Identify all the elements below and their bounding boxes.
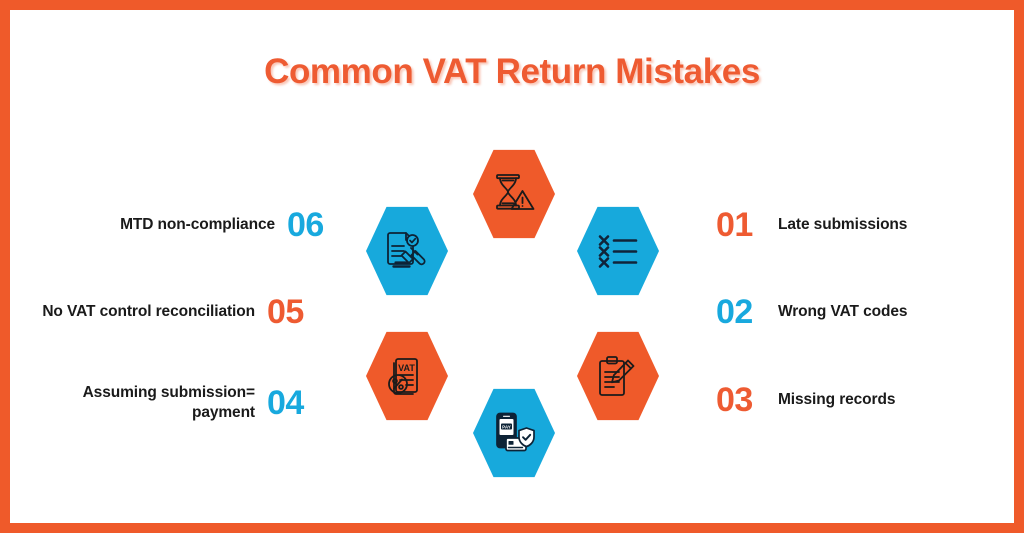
item-label: Missing records xyxy=(774,390,948,410)
hex-no-vat-control-reconciliation[interactable]: VAT xyxy=(366,330,448,422)
document-gavel-icon xyxy=(385,229,429,273)
item-05[interactable]: No VAT control reconciliation 05 xyxy=(30,295,325,329)
item-label: No VAT control reconciliation xyxy=(30,302,267,322)
item-06[interactable]: MTD non-compliance 06 xyxy=(50,208,345,242)
clipboard-pencil-icon xyxy=(596,354,640,398)
hex-late-submissions[interactable] xyxy=(473,148,555,240)
item-number: 03 xyxy=(716,383,774,417)
hex-assuming-submission-payment[interactable]: PAY xyxy=(473,387,555,479)
svg-text:PAY: PAY xyxy=(502,424,511,429)
item-label: Assuming submission= payment xyxy=(30,383,267,424)
vat-mistakes-infographic: Common VAT Return Mistakes xyxy=(0,0,1024,533)
item-number: 04 xyxy=(267,386,325,420)
item-number: 01 xyxy=(716,208,774,242)
item-label: MTD non-compliance xyxy=(50,215,287,235)
item-label: Late submissions xyxy=(774,215,948,235)
item-02[interactable]: 02 Wrong VAT codes xyxy=(716,295,948,329)
mobile-payment-shield-icon: PAY xyxy=(492,411,536,455)
item-label: Wrong VAT codes xyxy=(774,302,948,322)
item-01[interactable]: 01 Late submissions xyxy=(716,208,948,242)
hourglass-warning-icon xyxy=(491,172,537,216)
page-title: Common VAT Return Mistakes xyxy=(10,52,1014,92)
svg-text:VAT: VAT xyxy=(398,363,415,373)
checklist-x-marks-icon xyxy=(597,233,639,269)
hex-wrong-vat-codes[interactable] xyxy=(577,205,659,297)
item-03[interactable]: 03 Missing records xyxy=(716,383,948,417)
vat-document-percent-icon: VAT xyxy=(385,354,429,398)
item-number: 05 xyxy=(267,295,325,329)
item-number: 02 xyxy=(716,295,774,329)
hex-missing-records[interactable] xyxy=(577,330,659,422)
item-04[interactable]: Assuming submission= payment 04 xyxy=(30,383,325,424)
item-number: 06 xyxy=(287,208,345,242)
hex-mtd-non-compliance[interactable] xyxy=(366,205,448,297)
